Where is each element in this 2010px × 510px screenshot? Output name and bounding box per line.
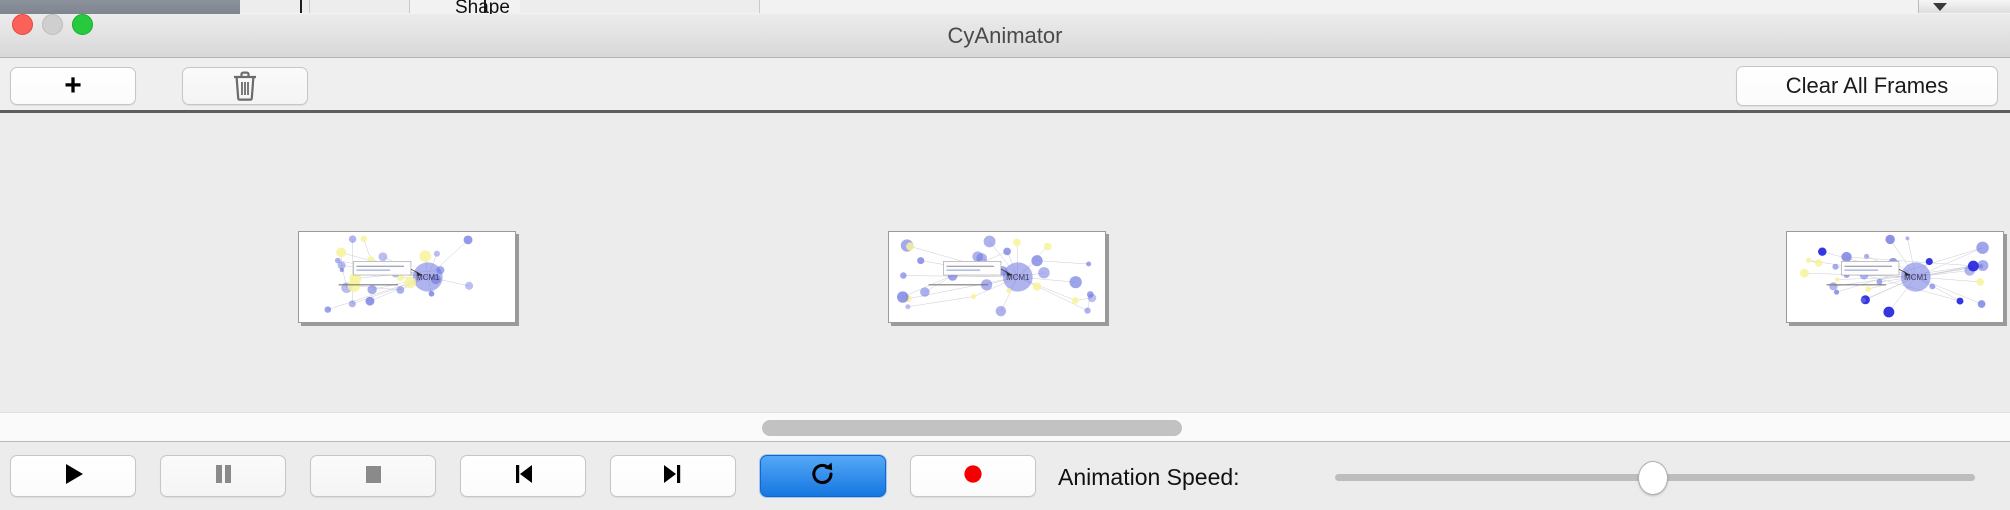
animation-speed-slider-thumb[interactable] (1638, 461, 1668, 495)
stop-icon (360, 461, 386, 492)
pause-button (160, 455, 286, 497)
svg-text:MCM1: MCM1 (1006, 273, 1029, 282)
animation-speed-label: Animation Speed: (1058, 464, 1240, 491)
background-divider (300, 0, 302, 13)
maximize-button[interactable] (72, 14, 93, 35)
pause-icon (210, 461, 236, 492)
timeline-frame[interactable]: MCM1 (888, 231, 1106, 323)
loop-button[interactable] (760, 455, 886, 497)
minimize-button[interactable] (42, 14, 63, 35)
stop-button (310, 455, 436, 497)
background-cell (310, 0, 410, 13)
svg-text:MCM1: MCM1 (1904, 273, 1927, 282)
background-window-label: Shape (455, 0, 510, 14)
skip-start-button[interactable] (460, 455, 586, 497)
svg-text:MCM1: MCM1 (416, 273, 439, 282)
record-icon (960, 461, 986, 492)
delete-frame-button[interactable] (182, 67, 308, 105)
window-title: CyAnimator (0, 14, 2010, 58)
clear-all-frames-button[interactable]: Clear All Frames (1736, 66, 1998, 106)
window-controls (12, 14, 93, 35)
close-button[interactable] (12, 14, 33, 35)
network-thumbnail: MCM1 (299, 232, 515, 322)
play-icon (60, 461, 86, 492)
play-button[interactable] (10, 455, 136, 497)
background-window-strip: Shape (0, 0, 2010, 14)
timeline-scrollbar-thumb[interactable] (762, 420, 1182, 436)
background-cell (520, 0, 760, 13)
title-bar: CyAnimator (0, 14, 2010, 58)
timeline-frame[interactable]: MCM1 (1786, 231, 2004, 323)
skip-end-icon (660, 461, 686, 492)
network-thumbnail: MCM1 (1787, 232, 2003, 322)
timeline-scrollbar[interactable] (0, 412, 2010, 442)
skip-end-button[interactable] (610, 455, 736, 497)
timeline-frame[interactable]: MCM1 (298, 231, 516, 323)
background-titlebar-fragment (0, 0, 240, 14)
trash-icon (232, 71, 258, 101)
background-scroll-arrow (1918, 0, 2010, 13)
record-button[interactable] (910, 455, 1036, 497)
toolbar: + Clear All Frames (0, 58, 2010, 110)
timeline-panel[interactable]: MCM1MCM1MCM1 12131415161718 Seconds (0, 113, 2010, 410)
add-frame-button[interactable]: + (10, 67, 136, 105)
loop-icon (809, 460, 837, 493)
cyanimator-window: Shape CyAnimator + Clear All Frames MCM1… (0, 0, 2010, 510)
skip-start-icon (510, 461, 536, 492)
transport-bar: Animation Speed: (0, 444, 2010, 510)
plus-icon: + (64, 71, 82, 101)
network-thumbnail: MCM1 (889, 232, 1105, 322)
clear-all-frames-label: Clear All Frames (1786, 73, 1949, 99)
